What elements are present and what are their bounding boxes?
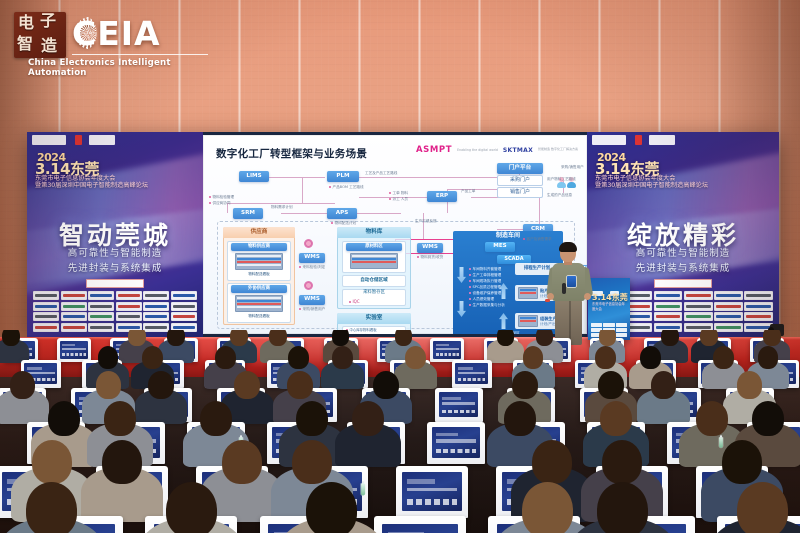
podium-sponsor <box>603 323 614 327</box>
laser-pointer-icon <box>545 299 550 302</box>
attendee-head <box>737 371 763 399</box>
logo-tagline: China Electronics Intelligent Automation <box>28 58 210 78</box>
attendee-head <box>287 371 313 399</box>
swirl-icon <box>71 16 97 50</box>
attendee-head <box>234 371 260 399</box>
podium-logos <box>591 281 627 287</box>
attendee-head <box>536 330 554 346</box>
attendee-head <box>722 440 762 484</box>
chair-cover-print <box>382 524 457 533</box>
speaker-hair <box>559 242 577 252</box>
attendee-head <box>96 371 122 399</box>
attendee-head <box>395 330 413 346</box>
audience-chair <box>57 338 91 362</box>
attendee-head <box>640 346 661 369</box>
attendee-head <box>352 401 384 436</box>
chair-cover-print <box>402 472 461 511</box>
attendee-head <box>148 371 174 399</box>
attendee-head <box>10 371 36 399</box>
chair-cover-logos <box>436 449 476 453</box>
attendee-head <box>599 330 617 346</box>
audience-chair <box>427 422 485 464</box>
attendee-head <box>215 346 236 369</box>
seal-char-2: 子 <box>40 13 56 29</box>
attendee-head <box>98 346 119 369</box>
attendee-head <box>523 346 544 369</box>
conference-photo: 2024 3.14东莞 东莞市电子信息协会年度大会 暨第30届深圳中国电子智能制… <box>0 0 800 533</box>
microphone-icon <box>562 283 566 294</box>
speaker-presenter <box>546 243 592 345</box>
podium-sponsor <box>616 323 627 327</box>
seal-char-4: 造 <box>41 38 57 54</box>
attendee-head <box>700 330 718 346</box>
attendee-head <box>128 330 146 346</box>
attendee-head <box>651 371 677 399</box>
attendee-head <box>758 346 779 369</box>
attendee-head <box>230 330 248 346</box>
chair-cover-logos <box>442 410 475 414</box>
audience-chair <box>396 466 468 518</box>
attendee-head <box>332 346 353 369</box>
chair-cover-print <box>455 363 488 384</box>
seal-char-3: 智 <box>17 36 33 52</box>
chair-cover-print <box>432 427 480 458</box>
attendee-head <box>306 482 357 533</box>
attendee-head <box>737 482 788 533</box>
audience-chair <box>430 338 464 362</box>
water-bottle <box>361 484 365 496</box>
attendee-head <box>26 482 77 533</box>
attendee-head <box>102 440 142 484</box>
attendee-head <box>269 330 287 346</box>
attendee-head <box>2 330 20 346</box>
attendee-head <box>32 440 72 484</box>
attendee-head <box>600 401 632 436</box>
seal-char-1: 电 <box>18 15 34 31</box>
attendee-head <box>512 371 538 399</box>
speaker-hand-right <box>584 293 591 300</box>
chair-cover-print <box>439 392 478 417</box>
attendee-head <box>166 482 217 533</box>
attendee-head <box>167 330 185 346</box>
attendee-head <box>752 401 784 436</box>
attendee-head <box>222 440 262 484</box>
seal-icon: 电 子 智 造 <box>14 12 66 58</box>
speaker-badge <box>567 276 576 287</box>
attendee-head <box>296 401 328 436</box>
attendee-head <box>532 440 572 484</box>
attendee-head <box>713 346 734 369</box>
chair-cover-logos <box>458 378 486 381</box>
attendee-head <box>292 440 332 484</box>
podium-sponsor <box>616 328 627 332</box>
audience-chair <box>435 388 483 422</box>
attendee-head <box>595 346 616 369</box>
attendee-head <box>602 440 642 484</box>
chair-cover-logos <box>436 353 459 355</box>
chair-cover-logos <box>407 499 457 504</box>
attendee-head <box>142 346 163 369</box>
podium-sponsor <box>616 333 627 337</box>
water-bottle <box>719 437 723 447</box>
podium-sponsor-row <box>591 323 627 327</box>
audience-chair <box>374 516 466 533</box>
logo-divider <box>72 54 208 55</box>
podium-sponsor <box>591 323 602 327</box>
attendee-head <box>200 401 232 436</box>
attendee-head <box>104 401 136 436</box>
attendee-head <box>661 330 679 346</box>
attendee-head <box>696 401 728 436</box>
attendee-head <box>288 346 309 369</box>
chair-cover-logos <box>62 353 85 355</box>
attendee-head <box>48 401 80 436</box>
audience-chair <box>452 360 492 388</box>
attendee-head <box>405 346 426 369</box>
attendee-head <box>373 371 399 399</box>
podium-subtitle: 东莞市电子信息协会年度大会 <box>592 302 627 312</box>
chair-cover-print <box>433 341 461 359</box>
attendee-head <box>504 401 536 436</box>
attendee-head <box>332 330 350 346</box>
attendee-head <box>763 330 781 346</box>
watermark-logo: 电 子 智 造 CEIA China Electronics Intellige… <box>14 8 210 74</box>
attendee-head <box>497 330 515 346</box>
chair-cover-print <box>60 341 88 359</box>
attendee-head <box>598 371 624 399</box>
attendee-head <box>597 482 648 533</box>
attendee-head <box>522 482 573 533</box>
